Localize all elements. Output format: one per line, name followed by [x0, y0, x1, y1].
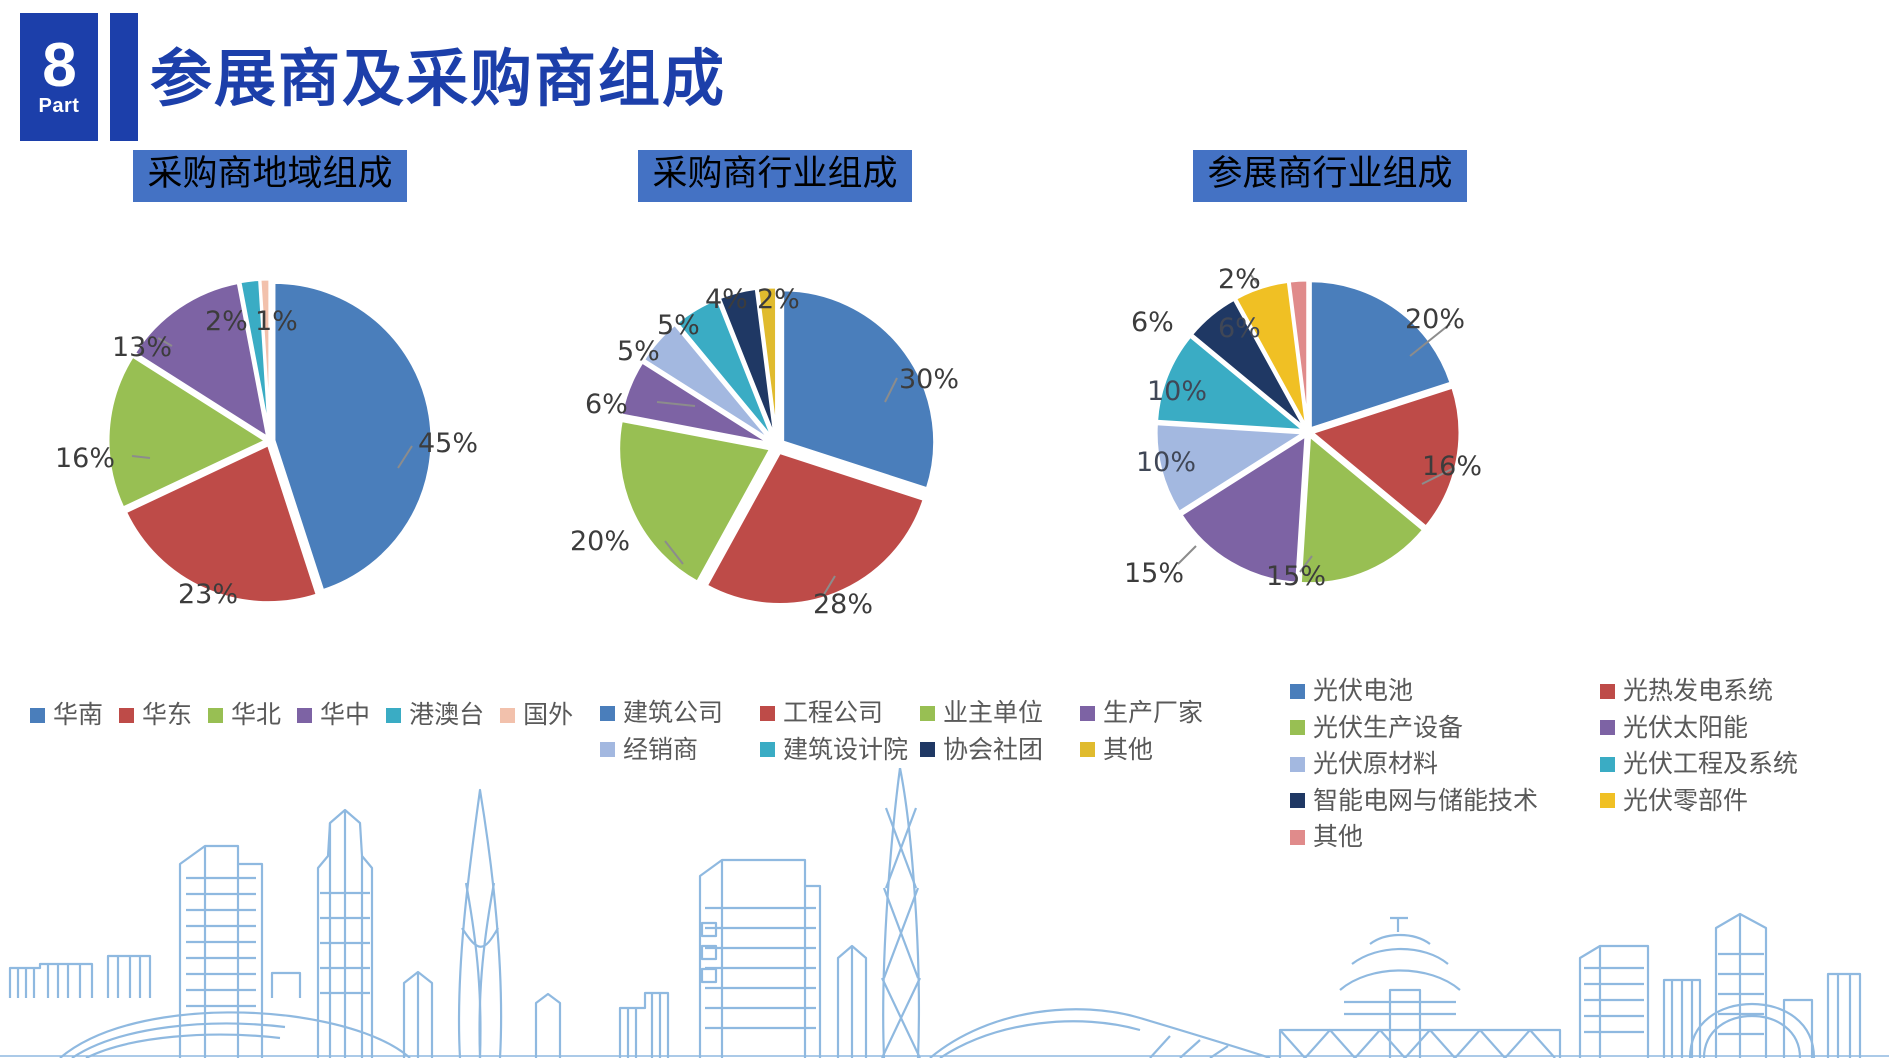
- header-accent-bar: [110, 13, 138, 141]
- legend-label: 华中: [320, 700, 370, 731]
- chart-2-pie-svg: [505, 206, 1045, 636]
- legend-swatch-icon: [1600, 720, 1615, 735]
- legend-swatch-icon: [1600, 684, 1615, 699]
- legend-item[interactable]: 光伏生产设备: [1290, 713, 1584, 744]
- legend-item[interactable]: 协会社团: [920, 735, 1064, 766]
- legend-item[interactable]: 其他: [1290, 822, 1584, 853]
- part-badge: 8 Part: [20, 13, 98, 141]
- legend-label: 光伏生产设备: [1313, 713, 1463, 744]
- legend-item[interactable]: 华南: [30, 700, 103, 731]
- legend-label: 华北: [231, 700, 281, 731]
- page-title: 参展商及采购商组成: [150, 28, 726, 118]
- legend-swatch-icon: [1290, 757, 1305, 772]
- legend-label: 生产厂家: [1103, 698, 1203, 729]
- leader-line: [1178, 546, 1196, 564]
- legend-label: 建筑公司: [623, 698, 723, 729]
- legend-item[interactable]: 光热发电系统: [1600, 676, 1874, 707]
- legend-item[interactable]: 华东: [119, 700, 192, 731]
- chart-purchaser-region: 采购商地域组成 45% 23% 16% 13% 2% 1%: [20, 150, 520, 636]
- legend-label: 华南: [53, 700, 103, 731]
- legend-swatch-icon: [1600, 793, 1615, 808]
- legend-label: 工程公司: [783, 698, 883, 729]
- chart-exhibitor-industry: 参展商行业组成 20% 16% 15% 15% 10% 10% 6% 6% 2%: [1050, 150, 1610, 616]
- chart-1-pie-area: 45% 23% 16% 13% 2% 1%: [20, 206, 520, 636]
- legend-swatch-icon: [297, 708, 312, 723]
- chart-3-pie-svg: [1050, 206, 1610, 616]
- legend-label: 光伏太阳能: [1623, 713, 1748, 744]
- legend-swatch-icon: [1290, 720, 1305, 735]
- legend-item[interactable]: 光伏原材料: [1290, 749, 1584, 780]
- chart-3-pie-area: 20% 16% 15% 15% 10% 10% 6% 6% 2%: [1050, 206, 1610, 616]
- chart-2-legend: 建筑公司工程公司业主单位生产厂家经销商建筑设计院协会社团其他: [600, 698, 1070, 765]
- legend-swatch-icon: [760, 706, 775, 721]
- chart-2-title: 采购商行业组成: [638, 150, 911, 202]
- legend-swatch-icon: [1080, 742, 1095, 757]
- legend-item[interactable]: 工程公司: [760, 698, 904, 729]
- legend-item[interactable]: 光伏太阳能: [1600, 713, 1874, 744]
- legend-item[interactable]: 光伏电池: [1290, 676, 1584, 707]
- legend-grid: 建筑公司工程公司业主单位生产厂家经销商建筑设计院协会社团其他: [600, 698, 1070, 765]
- legend-swatch-icon: [119, 708, 134, 723]
- legend-item[interactable]: 智能电网与储能技术: [1290, 786, 1584, 817]
- legend-label: 光伏工程及系统: [1623, 749, 1798, 780]
- part-number: 8: [42, 37, 75, 94]
- leader-line: [1250, 274, 1258, 284]
- legend-item[interactable]: 国外: [500, 700, 573, 731]
- legend-item[interactable]: 光伏零部件: [1600, 786, 1874, 817]
- legend-swatch-icon: [760, 742, 775, 757]
- legend-swatch-icon: [920, 742, 935, 757]
- chart-title-row: 参展商行业组成: [1050, 150, 1610, 206]
- legend-item[interactable]: 其他: [1080, 735, 1224, 766]
- legend-label: 其他: [1313, 822, 1363, 853]
- legend-swatch-icon: [386, 708, 401, 723]
- legend-label: 光伏原材料: [1313, 749, 1438, 780]
- legend-swatch-icon: [1600, 757, 1615, 772]
- chart-3-legend: 光伏电池光热发电系统光伏生产设备光伏太阳能光伏原材料光伏工程及系统智能电网与储能…: [1290, 676, 1889, 853]
- chart-1-title: 采购商地域组成: [133, 150, 406, 202]
- legend-label: 其他: [1103, 735, 1153, 766]
- legend-label: 建筑设计院: [783, 735, 908, 766]
- chart-purchaser-industry: 采购商行业组成 30% 28% 20% 6% 5% 5% 4% 2%: [505, 150, 1045, 636]
- legend-label: 港澳台: [409, 700, 484, 731]
- legend-item[interactable]: 经销商: [600, 735, 744, 766]
- legend-label: 光伏电池: [1313, 676, 1413, 707]
- chart-2-pie-area: 30% 28% 20% 6% 5% 5% 4% 2%: [505, 206, 1045, 636]
- legend-swatch-icon: [1290, 793, 1305, 808]
- legend-swatch-icon: [600, 706, 615, 721]
- legend-item[interactable]: 光伏工程及系统: [1600, 749, 1874, 780]
- legend-row: 华南华东华北华中港澳台国外: [30, 700, 500, 731]
- legend-spacer: [1600, 822, 1889, 853]
- legend-label: 国外: [523, 700, 573, 731]
- legend-swatch-icon: [208, 708, 223, 723]
- legend-label: 业主单位: [943, 698, 1043, 729]
- pie-slice: [783, 290, 935, 489]
- legend-label: 华东: [142, 700, 192, 731]
- legend-item[interactable]: 建筑设计院: [760, 735, 904, 766]
- chart-1-legend: 华南华东华北华中港澳台国外: [30, 700, 500, 733]
- legend-swatch-icon: [500, 708, 515, 723]
- legend-label: 光热发电系统: [1623, 676, 1773, 707]
- page-header: 8 Part 参展商及采购商组成: [0, 0, 1889, 160]
- legend-item[interactable]: 建筑公司: [600, 698, 744, 729]
- legend-label: 光伏零部件: [1623, 786, 1748, 817]
- part-word: Part: [39, 95, 80, 117]
- legend-swatch-icon: [1290, 830, 1305, 845]
- chart-title-row: 采购商行业组成: [505, 150, 1045, 206]
- chart-title-row: 采购商地域组成: [20, 150, 520, 206]
- legend-item[interactable]: 业主单位: [920, 698, 1064, 729]
- legend-swatch-icon: [1080, 706, 1095, 721]
- chart-1-pie-svg: [20, 206, 520, 636]
- legend-swatch-icon: [1290, 684, 1305, 699]
- chart-3-title: 参展商行业组成: [1193, 150, 1466, 202]
- legend-item[interactable]: 华中: [297, 700, 370, 731]
- legend-label: 协会社团: [943, 735, 1043, 766]
- legend-item[interactable]: 华北: [208, 700, 281, 731]
- legend-swatch-icon: [600, 742, 615, 757]
- legend-label: 智能电网与储能技术: [1313, 786, 1538, 817]
- legend-label: 经销商: [623, 735, 698, 766]
- legend-item[interactable]: 港澳台: [386, 700, 484, 731]
- legend-item[interactable]: 生产厂家: [1080, 698, 1224, 729]
- legend-swatch-icon: [30, 708, 45, 723]
- legend-grid: 光伏电池光热发电系统光伏生产设备光伏太阳能光伏原材料光伏工程及系统智能电网与储能…: [1290, 676, 1889, 853]
- legend-swatch-icon: [920, 706, 935, 721]
